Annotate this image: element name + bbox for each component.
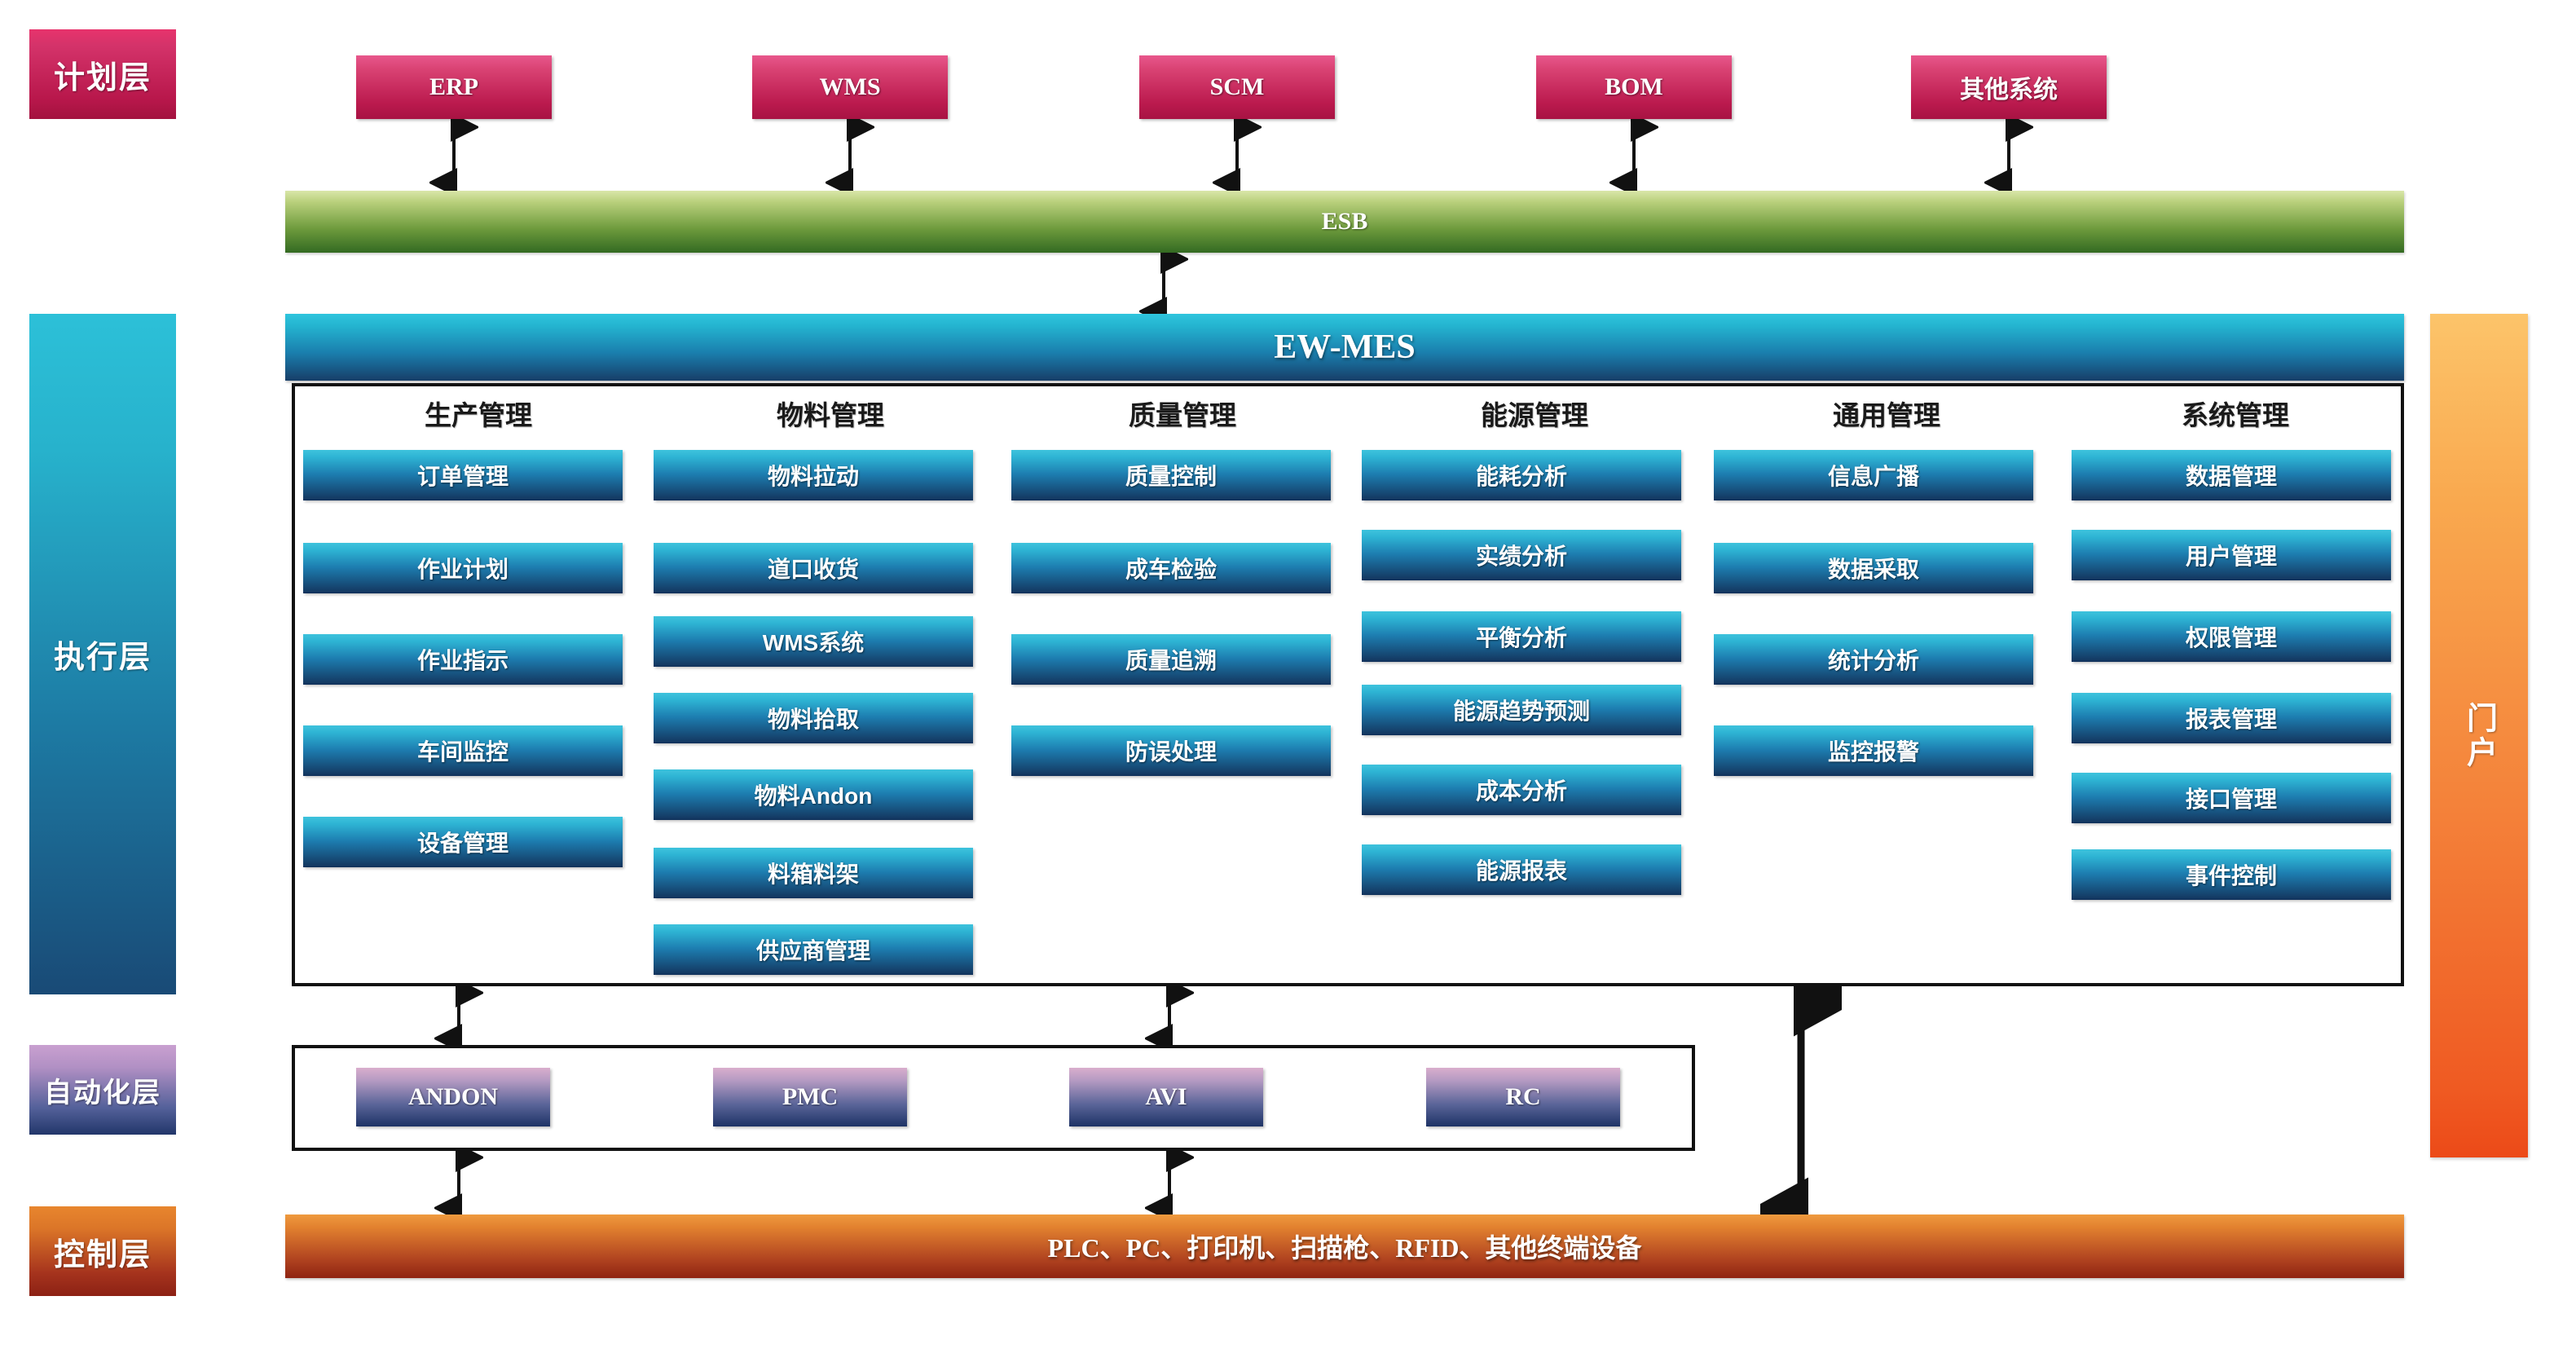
automation-system-avi-label: AVI <box>1145 1083 1187 1111</box>
module-button-label: 实绩分析 <box>1476 539 1567 571</box>
arrow-esb-mes <box>1139 253 1188 318</box>
module-button-energy-report[interactable]: 能源报表 <box>1362 844 1681 895</box>
layer-chip-plan: 计划层 <box>29 29 176 119</box>
module-button-report-management[interactable]: 报表管理 <box>2072 693 2391 743</box>
arrow-erp-esb <box>429 119 478 191</box>
module-button-label: 订单管理 <box>417 459 509 492</box>
module-button-label: 数据管理 <box>2186 459 2277 492</box>
automation-system-rc[interactable]: RC <box>1426 1068 1620 1126</box>
layer-chip-ctrl: 控制层 <box>29 1206 176 1296</box>
module-button-label: 物料拉动 <box>768 459 859 492</box>
planning-system-scm-label: SCM <box>1210 73 1265 101</box>
automation-system-rc-label: RC <box>1505 1083 1540 1111</box>
arrow-bom-esb <box>1609 119 1658 191</box>
arrow-mes-control-layer <box>1760 985 1842 1229</box>
module-button-bin-rack[interactable]: 料箱料架 <box>654 848 973 898</box>
arrow-automation-control-right <box>1145 1151 1194 1215</box>
module-button-quality-traceability[interactable]: 质量追溯 <box>1011 634 1331 685</box>
module-button-label: 质量追溯 <box>1125 643 1217 676</box>
layer-chip-auto-label: 自动化层 <box>44 1070 161 1110</box>
module-button-energy-trend-forecast[interactable]: 能源趋势预测 <box>1362 685 1681 735</box>
module-column-title-production-label: 生产管理 <box>425 394 532 433</box>
module-button-label: 道口收货 <box>768 552 859 584</box>
module-button-error-proofing[interactable]: 防误处理 <box>1011 725 1331 776</box>
module-button-label: 事件控制 <box>2186 858 2277 891</box>
module-button-label: 料箱料架 <box>768 857 859 889</box>
module-column-title-general: 通用管理 <box>1711 393 2062 434</box>
planning-system-bom[interactable]: BOM <box>1536 55 1732 119</box>
module-button-material-picking[interactable]: 物料拾取 <box>654 693 973 743</box>
module-button-order-management[interactable]: 订单管理 <box>303 450 623 500</box>
module-button-workshop-monitoring[interactable]: 车间监控 <box>303 725 623 776</box>
automation-system-andon[interactable]: ANDON <box>356 1068 550 1126</box>
layer-chip-plan-label: 计划层 <box>54 52 152 97</box>
planning-system-other[interactable]: 其他系统 <box>1911 55 2107 119</box>
module-button-material-pull[interactable]: 物料拉动 <box>654 450 973 500</box>
module-button-label: 物料拾取 <box>768 702 859 734</box>
layer-chip-ctrl-label: 控制层 <box>54 1229 152 1274</box>
module-button-label: WMS系统 <box>763 625 864 658</box>
control-layer-label: PLC、PC、打印机、扫描枪、RFID、其他终端设备 <box>1048 1228 1642 1265</box>
module-button-label: 质量控制 <box>1125 459 1217 492</box>
portal-label: 门户 <box>2457 702 2502 770</box>
module-column-title-energy-label: 能源管理 <box>1481 394 1588 433</box>
module-button-label: 物料Andon <box>755 778 873 811</box>
planning-system-scm[interactable]: SCM <box>1139 55 1335 119</box>
module-button-label: 作业计划 <box>417 552 509 584</box>
module-button-label: 能耗分析 <box>1476 459 1567 492</box>
module-button-supplier-management[interactable]: 供应商管理 <box>654 924 973 975</box>
module-button-equipment-management[interactable]: 设备管理 <box>303 817 623 867</box>
module-button-user-management[interactable]: 用户管理 <box>2072 530 2391 580</box>
module-button-label: 统计分析 <box>1828 643 1919 676</box>
module-button-label: 设备管理 <box>417 826 509 858</box>
planning-system-erp[interactable]: ERP <box>356 55 552 119</box>
automation-system-avi[interactable]: AVI <box>1069 1068 1263 1126</box>
module-column-title-system-label: 系统管理 <box>2182 394 2289 433</box>
module-button-label: 作业指示 <box>417 643 509 676</box>
module-button-label: 报表管理 <box>2186 702 2277 734</box>
module-button-dock-receiving[interactable]: 道口收货 <box>654 543 973 593</box>
module-button-statistical-analysis[interactable]: 统计分析 <box>1714 634 2033 685</box>
module-button-data-management[interactable]: 数据管理 <box>2072 450 2391 500</box>
module-button-interface-management[interactable]: 接口管理 <box>2072 773 2391 823</box>
module-button-monitoring-alarm[interactable]: 监控报警 <box>1714 725 2033 776</box>
module-column-title-material-label: 物料管理 <box>777 394 884 433</box>
automation-system-andon-label: ANDON <box>408 1083 498 1111</box>
esb-bar[interactable]: ESB <box>285 191 2404 253</box>
esb-label: ESB <box>1322 208 1368 236</box>
module-button-label: 监控报警 <box>1828 734 1919 767</box>
arrow-automation-control-left <box>434 1151 483 1215</box>
module-button-label: 信息广播 <box>1828 459 1919 492</box>
arrow-scm-esb <box>1213 119 1262 191</box>
module-column-title-quality-label: 质量管理 <box>1129 394 1236 433</box>
planning-system-erp-label: ERP <box>429 73 478 101</box>
automation-system-pmc[interactable]: PMC <box>713 1068 907 1126</box>
mes-bar[interactable]: EW-MES <box>285 314 2404 381</box>
module-button-cost-analysis[interactable]: 成本分析 <box>1362 765 1681 815</box>
module-button-quality-control[interactable]: 质量控制 <box>1011 450 1331 500</box>
module-column-title-system: 系统管理 <box>2060 393 2411 434</box>
arrow-mes-automation-left <box>434 986 483 1045</box>
module-button-label: 能源报表 <box>1476 853 1567 886</box>
module-button-label: 成本分析 <box>1476 774 1567 806</box>
module-button-wms-system[interactable]: WMS系统 <box>654 616 973 667</box>
module-button-performance-analysis[interactable]: 实绩分析 <box>1362 530 1681 580</box>
module-button-permission-management[interactable]: 权限管理 <box>2072 611 2391 662</box>
layer-chip-auto: 自动化层 <box>29 1045 176 1135</box>
module-button-label: 数据采取 <box>1828 552 1919 584</box>
module-button-balance-analysis[interactable]: 平衡分析 <box>1362 611 1681 662</box>
module-button-event-control[interactable]: 事件控制 <box>2072 849 2391 900</box>
mes-label: EW-MES <box>1274 328 1415 367</box>
planning-system-wms[interactable]: WMS <box>752 55 948 119</box>
layer-chip-exec-label: 执行层 <box>54 632 152 677</box>
portal-bar[interactable]: 门户 <box>2430 314 2528 1157</box>
module-button-label: 成车检验 <box>1125 552 1217 584</box>
planning-system-wms-label: WMS <box>820 73 881 101</box>
module-button-energy-consumption-analysis[interactable]: 能耗分析 <box>1362 450 1681 500</box>
arrow-wms-esb <box>826 119 874 191</box>
module-button-label: 平衡分析 <box>1476 620 1567 653</box>
module-column-title-quality: 质量管理 <box>1007 393 1358 434</box>
layer-chip-exec: 执行层 <box>29 314 176 994</box>
module-button-label: 防误处理 <box>1125 734 1217 767</box>
arrow-other-esb <box>1984 119 2033 191</box>
module-button-material-andon[interactable]: 物料Andon <box>654 769 973 820</box>
module-button-label: 接口管理 <box>2186 782 2277 814</box>
arrow-mes-automation-right <box>1145 986 1194 1045</box>
automation-system-pmc-label: PMC <box>782 1083 838 1111</box>
module-button-label: 权限管理 <box>2186 620 2277 653</box>
module-button-data-acquisition[interactable]: 数据采取 <box>1714 543 2033 593</box>
module-button-label: 供应商管理 <box>756 933 870 966</box>
module-column-title-production: 生产管理 <box>303 393 654 434</box>
module-button-work-plan[interactable]: 作业计划 <box>303 543 623 593</box>
module-button-label: 用户管理 <box>2186 539 2277 571</box>
planning-system-other-label: 其他系统 <box>1960 69 2058 105</box>
module-button-work-instruction[interactable]: 作业指示 <box>303 634 623 685</box>
module-button-information-broadcast[interactable]: 信息广播 <box>1714 450 2033 500</box>
module-column-title-material: 物料管理 <box>655 393 1006 434</box>
control-layer-bar[interactable]: PLC、PC、打印机、扫描枪、RFID、其他终端设备 <box>285 1215 2404 1278</box>
planning-system-bom-label: BOM <box>1605 73 1663 101</box>
module-button-label: 车间监控 <box>417 734 509 767</box>
module-button-label: 能源趋势预测 <box>1453 694 1590 726</box>
module-button-vehicle-inspection[interactable]: 成车检验 <box>1011 543 1331 593</box>
module-column-title-general-label: 通用管理 <box>1833 394 1940 433</box>
module-column-title-energy: 能源管理 <box>1359 393 1710 434</box>
